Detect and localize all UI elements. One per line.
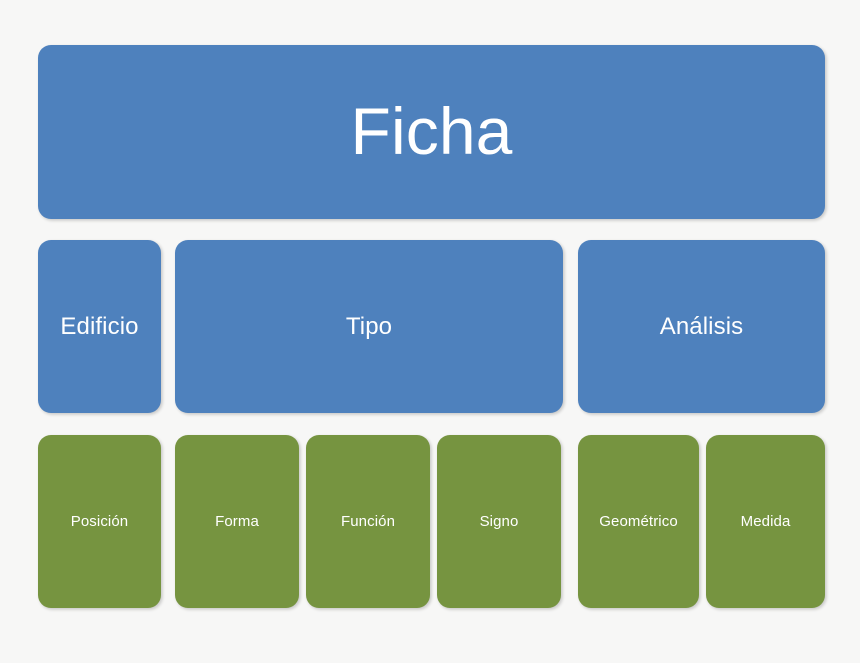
node-signo[interactable]: Signo bbox=[437, 435, 561, 608]
node-label-forma: Forma bbox=[215, 513, 259, 530]
node-label-ficha: Ficha bbox=[351, 94, 513, 170]
node-funcion[interactable]: Función bbox=[306, 435, 430, 608]
node-label-edificio: Edificio bbox=[60, 313, 138, 341]
node-geometrico[interactable]: Geométrico bbox=[578, 435, 699, 608]
node-posicion[interactable]: Posición bbox=[38, 435, 161, 608]
node-label-analisis: Análisis bbox=[660, 313, 744, 341]
node-medida[interactable]: Medida bbox=[706, 435, 825, 608]
node-edificio[interactable]: Edificio bbox=[38, 240, 161, 413]
node-ficha[interactable]: Ficha bbox=[38, 45, 825, 219]
node-label-signo: Signo bbox=[480, 513, 519, 530]
node-forma[interactable]: Forma bbox=[175, 435, 299, 608]
node-label-funcion: Función bbox=[341, 513, 395, 530]
node-label-posicion: Posición bbox=[71, 513, 129, 530]
diagram-canvas: Ficha Edificio Tipo Análisis Posición Fo… bbox=[0, 0, 860, 663]
node-label-tipo: Tipo bbox=[346, 313, 392, 341]
node-label-geometrico: Geométrico bbox=[599, 513, 678, 530]
node-label-medida: Medida bbox=[741, 513, 791, 530]
node-analisis[interactable]: Análisis bbox=[578, 240, 825, 413]
node-tipo[interactable]: Tipo bbox=[175, 240, 563, 413]
